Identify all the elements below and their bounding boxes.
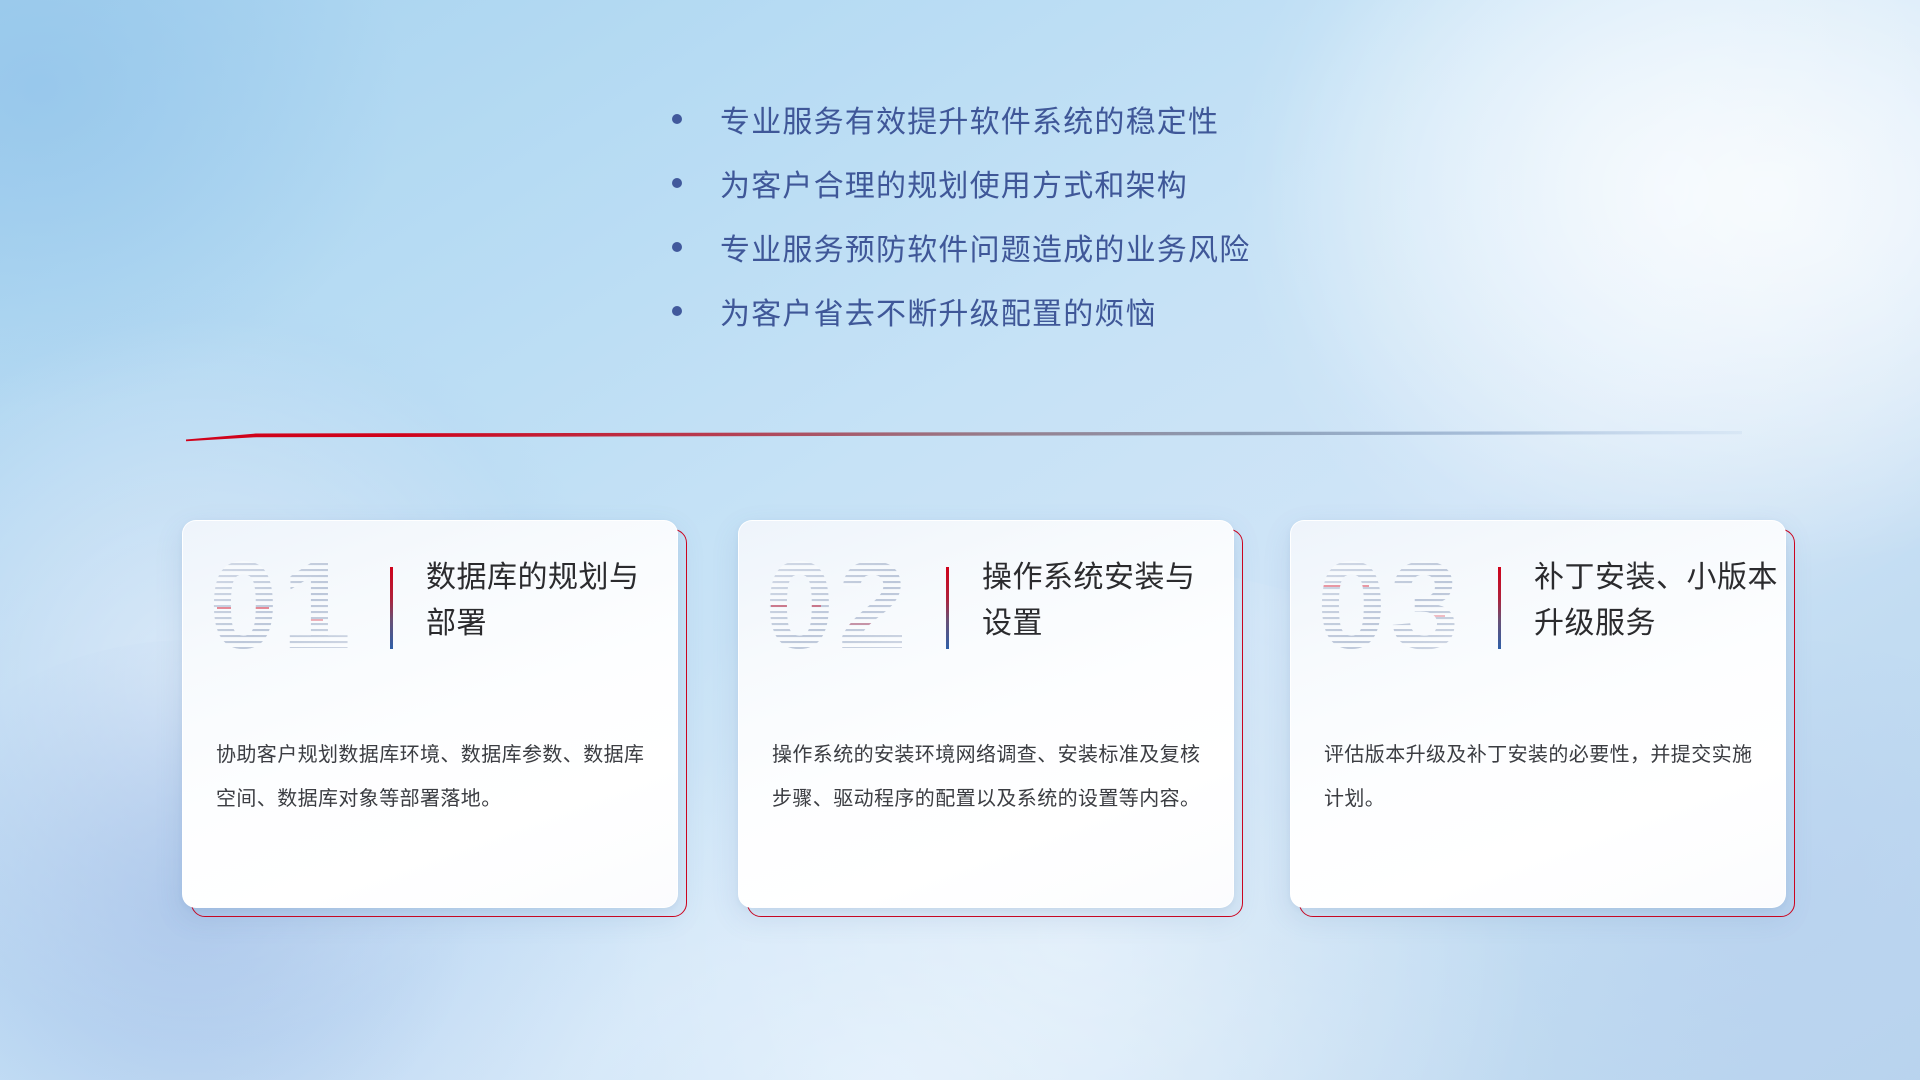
card-title: 补丁安装、小版本升级服务 <box>1534 555 1786 647</box>
bullet-text: 专业服务预防软件问题造成的业务风险 <box>720 236 1250 266</box>
card-panel: 03 补丁安装、小版本升级服务 <box>1290 520 1786 908</box>
card-header: 01 数据库的规划与部署 <box>183 521 678 717</box>
service-card-group: 01 数据库的规划与部署 <box>182 520 1802 920</box>
benefits-bullet-list: 专业服务有效提升软件系统的稳定性 为客户合理的规划使用方式和架构 专业服务预防软… <box>672 108 1532 364</box>
divider-line-icon <box>186 425 1742 445</box>
service-card[interactable]: 02 操作系统安装与设置 <box>738 520 1234 908</box>
service-card[interactable]: 01 数据库的规划与部署 <box>182 520 678 908</box>
card-panel: 01 数据库的规划与部署 <box>182 520 678 908</box>
card-number-graphic: 03 <box>1317 545 1487 670</box>
card-number-graphic: 01 <box>209 545 379 670</box>
bullet-dot-icon <box>672 242 682 252</box>
list-item: 专业服务预防软件问题造成的业务风险 <box>672 236 1532 300</box>
bullet-dot-icon <box>672 178 682 188</box>
card-panel: 02 操作系统安装与设置 <box>738 520 1234 908</box>
list-item: 为客户省去不断升级配置的烦恼 <box>672 300 1532 364</box>
card-number-graphic: 02 <box>765 545 935 670</box>
list-item: 专业服务有效提升软件系统的稳定性 <box>672 108 1532 172</box>
card-description: 评估版本升级及补丁安装的必要性，并提交实施计划。 <box>1324 733 1768 821</box>
bullet-text: 为客户合理的规划使用方式和架构 <box>720 172 1188 202</box>
bullet-dot-icon <box>672 306 682 316</box>
card-title: 操作系统安装与设置 <box>982 555 1217 647</box>
slide-canvas: 专业服务有效提升软件系统的稳定性 为客户合理的规划使用方式和架构 专业服务预防软… <box>0 0 1920 1080</box>
striped-number-icon: 03 <box>1317 545 1487 670</box>
card-description: 协助客户规划数据库环境、数据库参数、数据库空间、数据库对象等部署落地。 <box>216 733 648 821</box>
bullet-text: 为客户省去不断升级配置的烦恼 <box>720 300 1157 330</box>
card-title-rule <box>1498 567 1501 649</box>
service-card[interactable]: 03 补丁安装、小版本升级服务 <box>1290 520 1786 908</box>
card-title-rule <box>390 567 393 649</box>
card-header: 03 补丁安装、小版本升级服务 <box>1291 521 1786 717</box>
striped-number-icon: 01 <box>209 545 379 670</box>
bullet-text: 专业服务有效提升软件系统的稳定性 <box>720 108 1219 138</box>
card-description: 操作系统的安装环境网络调查、安装标准及复核步骤、驱动程序的配置以及系统的设置等内… <box>772 733 1204 821</box>
card-header: 02 操作系统安装与设置 <box>739 521 1234 717</box>
striped-number-icon: 02 <box>765 545 935 670</box>
card-title: 数据库的规划与部署 <box>426 555 661 647</box>
section-divider <box>186 425 1742 445</box>
card-title-rule <box>946 567 949 649</box>
bullet-dot-icon <box>672 114 682 124</box>
list-item: 为客户合理的规划使用方式和架构 <box>672 172 1532 236</box>
